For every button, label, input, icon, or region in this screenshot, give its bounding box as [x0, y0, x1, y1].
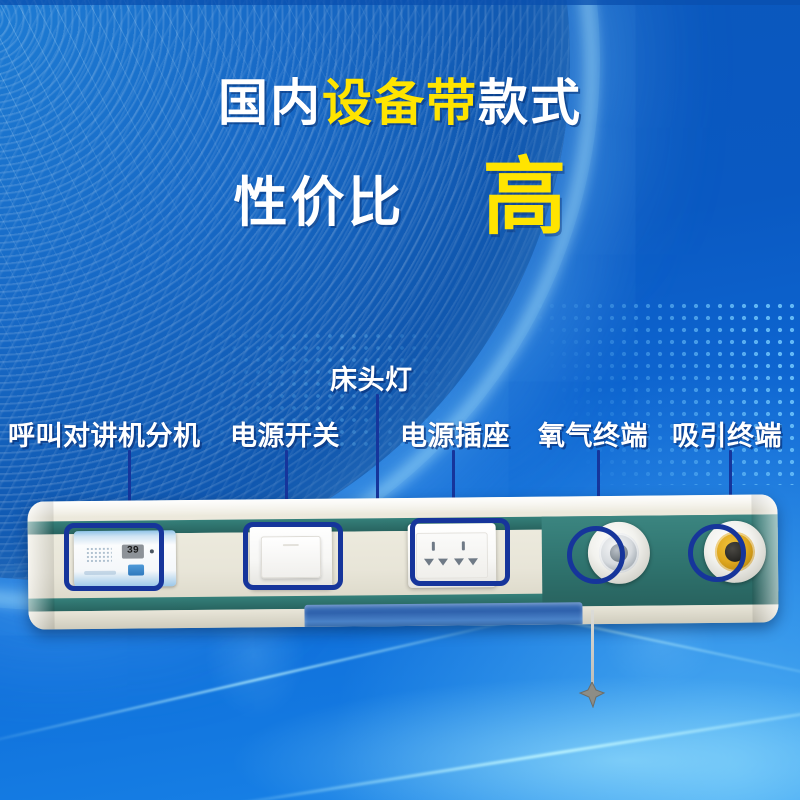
highlight-box-power-switch — [243, 522, 343, 590]
highlight-circle-oxygen-terminal — [567, 526, 625, 584]
callout-label-power-socket: 电源插座 — [400, 414, 510, 453]
promo-banner: 国内设备带款式 性价比高 呼叫对讲机分机 电源开关 床头灯 电源插座 氧气终端 … — [0, 0, 800, 800]
highlight-box-power-socket — [410, 518, 510, 586]
headline-part-1: 国内 — [218, 75, 322, 131]
callout-label-oxygen-terminal: 氧气终端 — [538, 414, 648, 453]
callout-label-power-switch: 电源开关 — [230, 414, 340, 453]
headline-block: 国内设备带款式 性价比高 — [0, 78, 800, 128]
halftone-dot-pattern — [510, 300, 800, 485]
hanging-cord — [591, 610, 594, 688]
callout-label-bed-lamp: 床头灯 — [330, 358, 413, 397]
panel-end-cap-left — [27, 501, 54, 629]
headline-line-1: 国内设备带款式 — [0, 78, 800, 128]
cord-connector-icon — [578, 682, 606, 708]
headline-accent: 设备带 — [322, 75, 478, 131]
highlight-box-intercom-extension — [64, 523, 164, 591]
highlight-circle-suction-terminal — [688, 524, 746, 582]
headline-big-character: 高 — [482, 159, 566, 236]
headline-part-2: 款式 — [478, 75, 582, 131]
headline-line-2: 性价比高 — [0, 158, 800, 237]
top-edge-bar — [0, 0, 800, 5]
callout-label-intercom-extension: 呼叫对讲机分机 — [8, 414, 201, 453]
callout-label-suction-terminal: 吸引终端 — [672, 414, 782, 453]
headline-subtext: 性价比 — [233, 158, 404, 237]
